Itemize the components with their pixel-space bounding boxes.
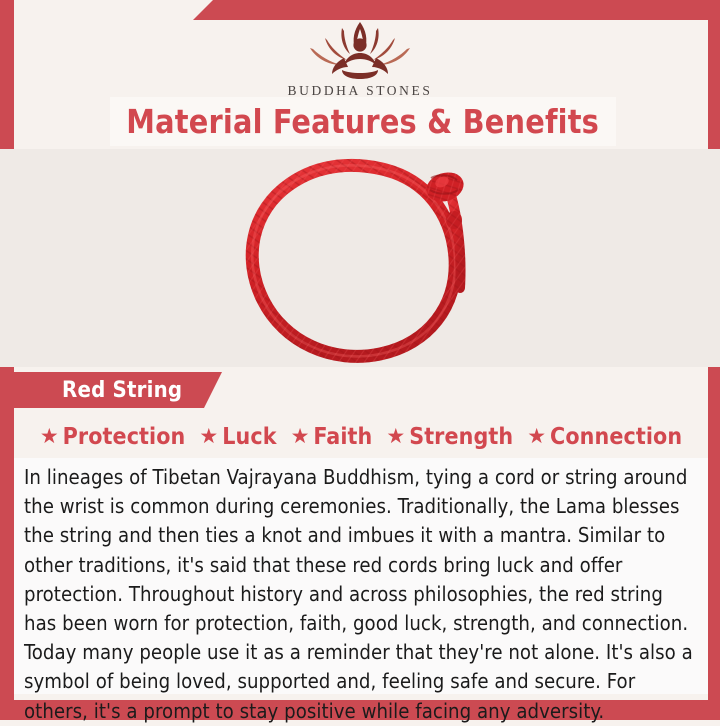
star-icon: ★ <box>291 426 310 447</box>
star-icon: ★ <box>527 426 546 447</box>
benefit-label: Faith <box>313 424 372 450</box>
benefit-item: ★ Protection <box>40 424 186 450</box>
product-image-area <box>0 149 720 367</box>
red-string-bracelet-image <box>228 149 492 367</box>
product-name-banner: Red String <box>0 372 222 408</box>
benefit-label: Connection <box>550 424 682 450</box>
benefit-label: Protection <box>63 424 186 450</box>
infographic-page: BUDDHA STONES Material Features & Benefi… <box>0 0 720 720</box>
star-icon: ★ <box>40 426 59 447</box>
benefit-item: ★ Strength <box>386 424 513 450</box>
lotus-meditation-icon <box>298 18 422 80</box>
benefit-item: ★ Luck <box>199 424 276 450</box>
top-red-bar <box>0 0 720 20</box>
star-icon: ★ <box>386 426 405 447</box>
page-title: Material Features & Benefits <box>110 97 616 146</box>
benefit-item: ★ Connection <box>527 424 682 450</box>
brand-logo: BUDDHA STONES <box>0 18 720 99</box>
product-name-label: Red String <box>62 378 182 403</box>
description-text: In lineages of Tibetan Vajrayana Buddhis… <box>24 463 694 726</box>
benefit-item: ★ Faith <box>291 424 373 450</box>
star-icon: ★ <box>199 426 218 447</box>
description-panel: In lineages of Tibetan Vajrayana Buddhis… <box>14 458 708 694</box>
page-title-text: Material Features & Benefits <box>127 102 600 141</box>
benefits-row: ★ Protection ★ Luck ★ Faith ★ Strength ★… <box>14 420 708 454</box>
knot-bead <box>446 211 462 229</box>
benefit-label: Strength <box>409 424 513 450</box>
benefit-label: Luck <box>222 424 276 450</box>
